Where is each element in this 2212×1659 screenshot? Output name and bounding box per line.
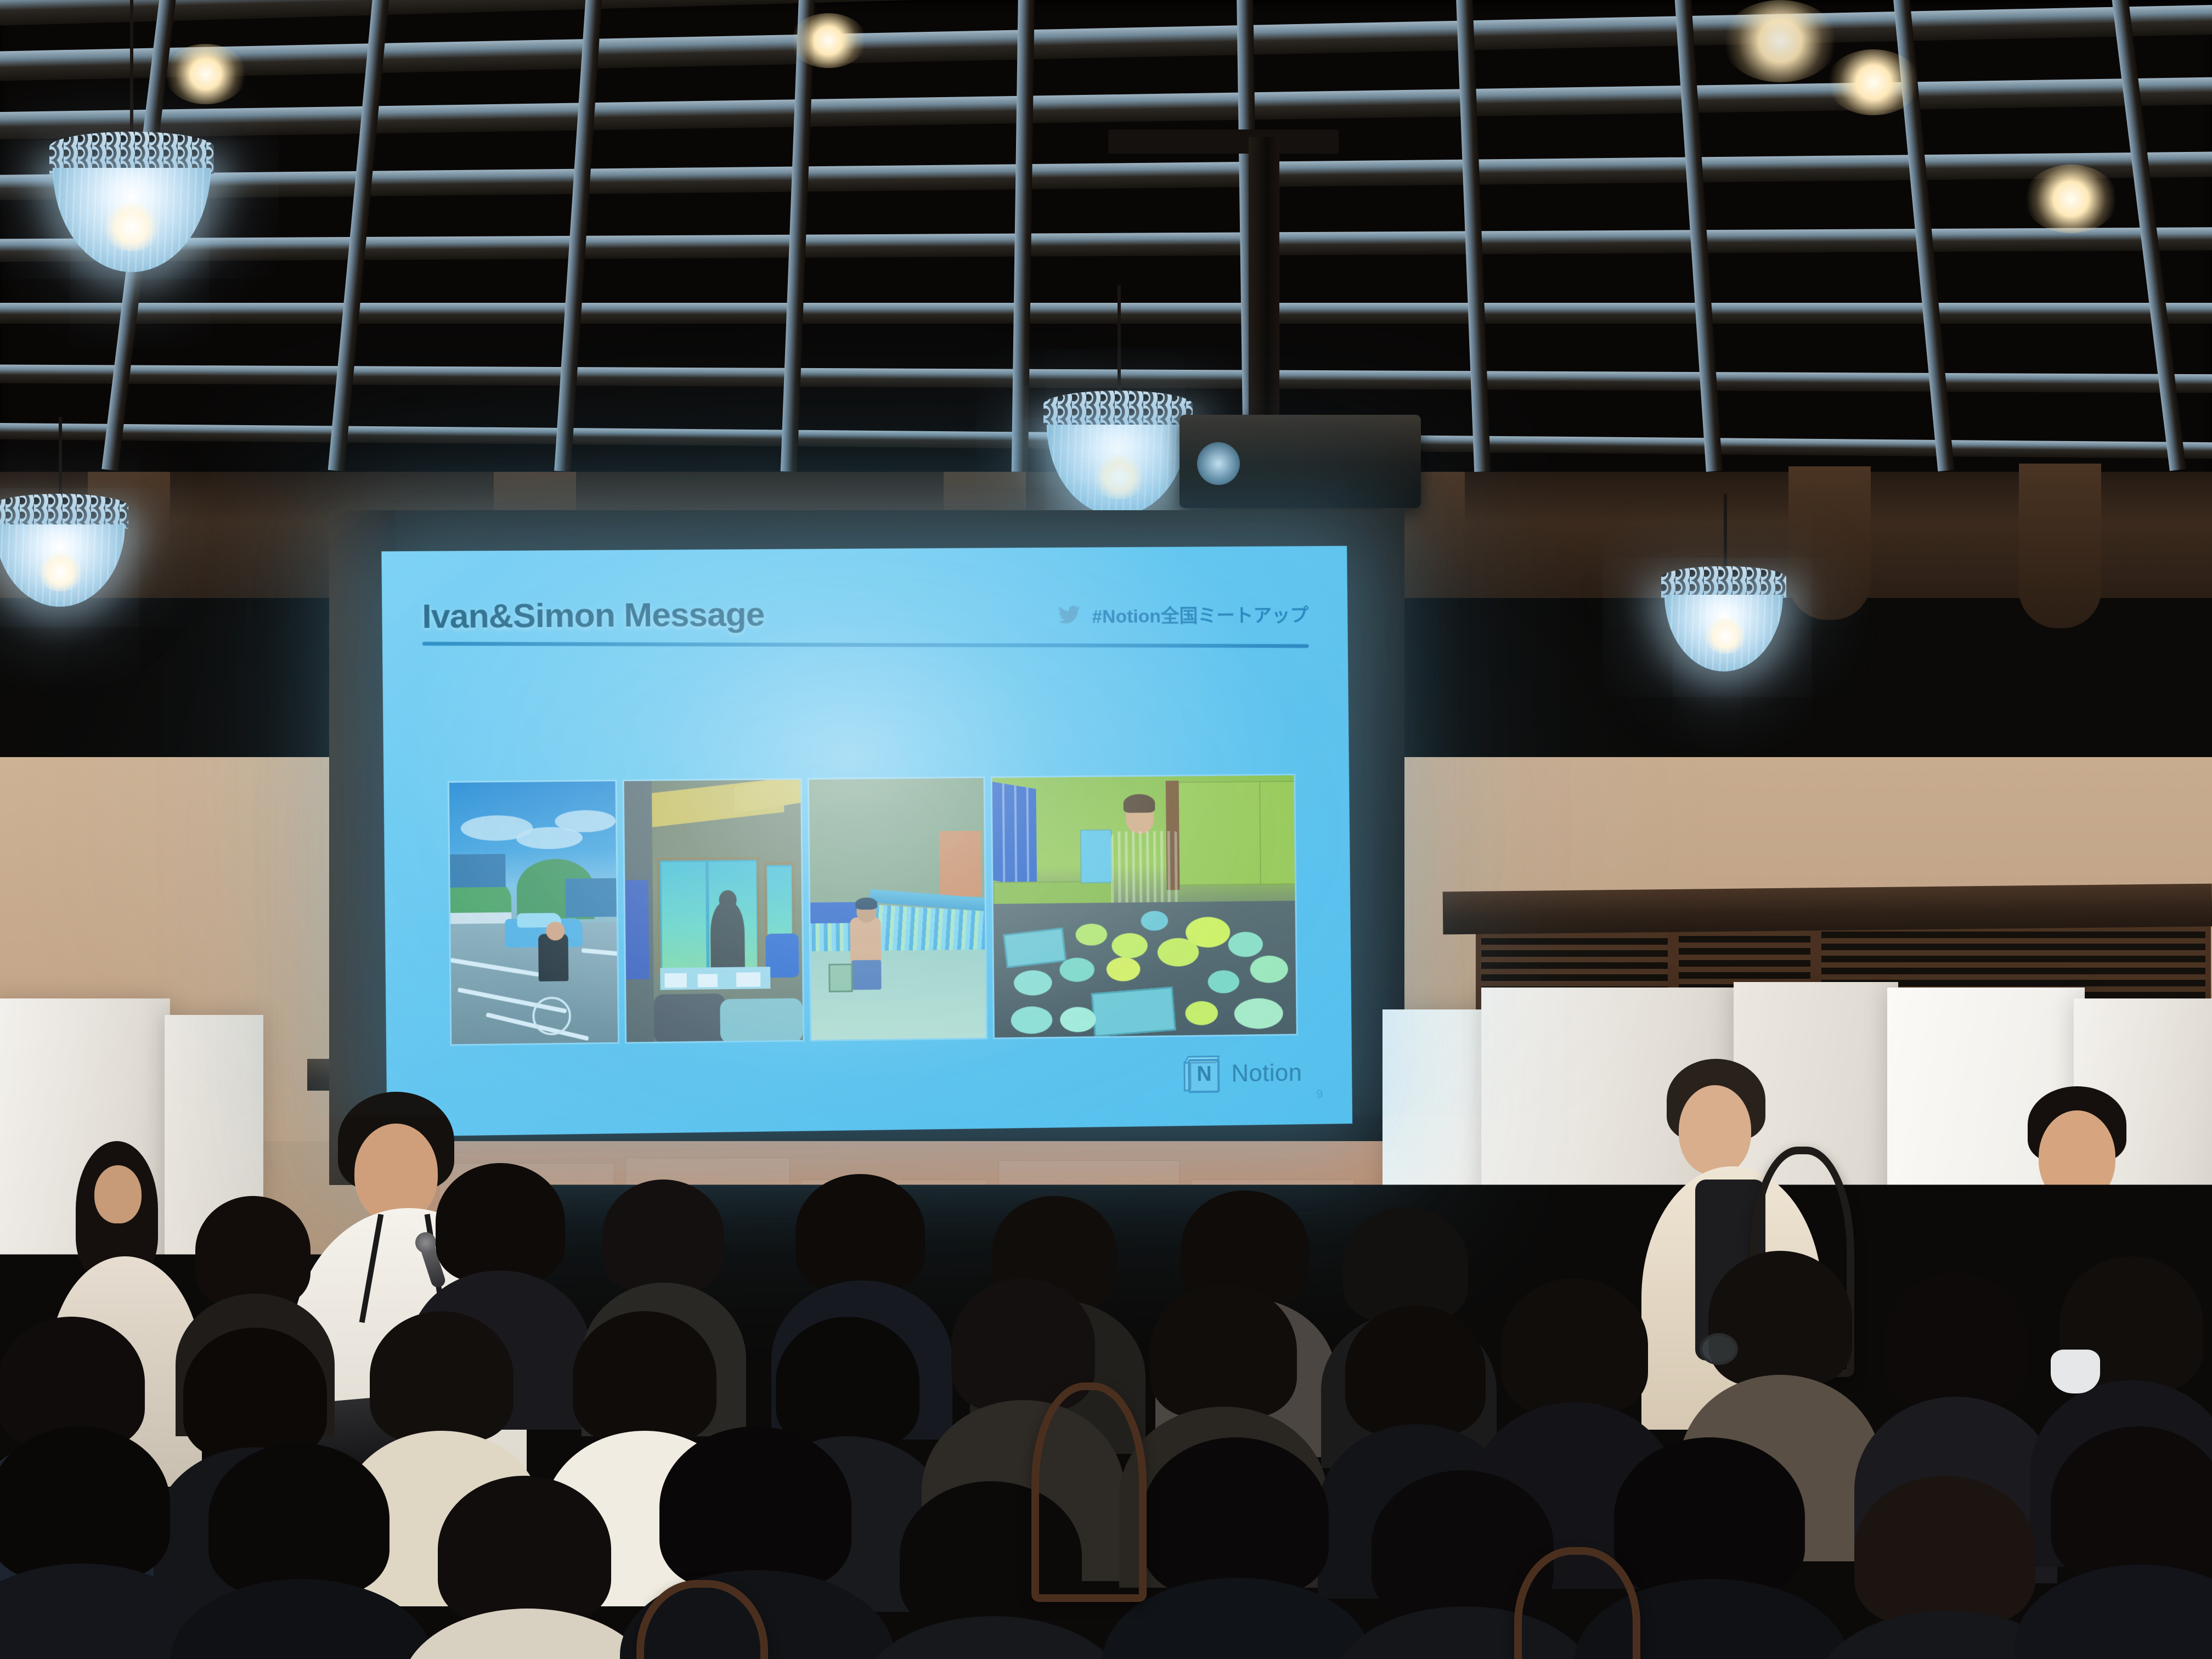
- audience-member: [1119, 1437, 1355, 1659]
- slide-divider-rule: [422, 642, 1309, 648]
- slide-notion-logo: N Notion: [1182, 1053, 1302, 1094]
- pendant-lamp-left-lower: [0, 417, 143, 636]
- slide-photo-4-dinner: [992, 775, 1296, 1037]
- head: [2039, 1110, 2115, 1204]
- pendant-lamp-left-upper: [33, 0, 230, 285]
- glasses-icon: [1700, 1333, 1738, 1365]
- audience-member: [2030, 1426, 2212, 1659]
- chair-back: [1031, 1383, 1147, 1602]
- slide-hashtag-group: #Notion全国ミートアップ: [1054, 600, 1308, 632]
- presentation-room-photo: tion on Ivan&Simon Message #Notion全国ミートア…: [0, 0, 2212, 1659]
- chair-back: [1799, 1361, 1909, 1558]
- projector-ceiling-bracket: [1108, 129, 1339, 154]
- head: [94, 1165, 142, 1223]
- slide-photo-3-store: [809, 778, 986, 1040]
- twitter-bird-icon: [1054, 603, 1084, 627]
- notion-n-cube-icon: N: [1182, 1054, 1222, 1094]
- face-mask: [2051, 1350, 2100, 1393]
- slide-photo-2-interior: [624, 780, 803, 1042]
- projector-mount-pole: [1249, 137, 1279, 428]
- audience-member: [417, 1476, 636, 1659]
- head: [1679, 1085, 1751, 1175]
- projector-lens-icon: [1197, 442, 1240, 485]
- slide-hashtag-text: #Notion全国ミートアップ: [1092, 600, 1308, 628]
- slide-logo-text: Notion: [1231, 1059, 1302, 1087]
- slide-page-number: 9: [1316, 1087, 1323, 1101]
- projection-screen: Ivan&Simon Message #Notion全国ミートアップ: [381, 546, 1352, 1137]
- audience-member: [0, 1426, 198, 1659]
- wall-beam-right: [1443, 884, 2212, 935]
- downlight-center-right: [1827, 49, 1920, 115]
- downlight-center-left: [790, 13, 867, 68]
- slide-photo-1-cycling: [449, 781, 618, 1044]
- slide-photo-strip: [449, 775, 1296, 1044]
- slide-title: Ivan&Simon Message: [422, 595, 765, 636]
- audience-member: [187, 1443, 417, 1659]
- slide: Ivan&Simon Message #Notion全国ミートアップ: [381, 546, 1352, 1137]
- slide-header: Ivan&Simon Message #Notion全国ミートアップ: [422, 578, 1309, 636]
- downlight-far-right: [1723, 0, 1838, 82]
- pendant-lamp-right: [1651, 494, 1799, 702]
- downlight-right: [2024, 165, 2118, 233]
